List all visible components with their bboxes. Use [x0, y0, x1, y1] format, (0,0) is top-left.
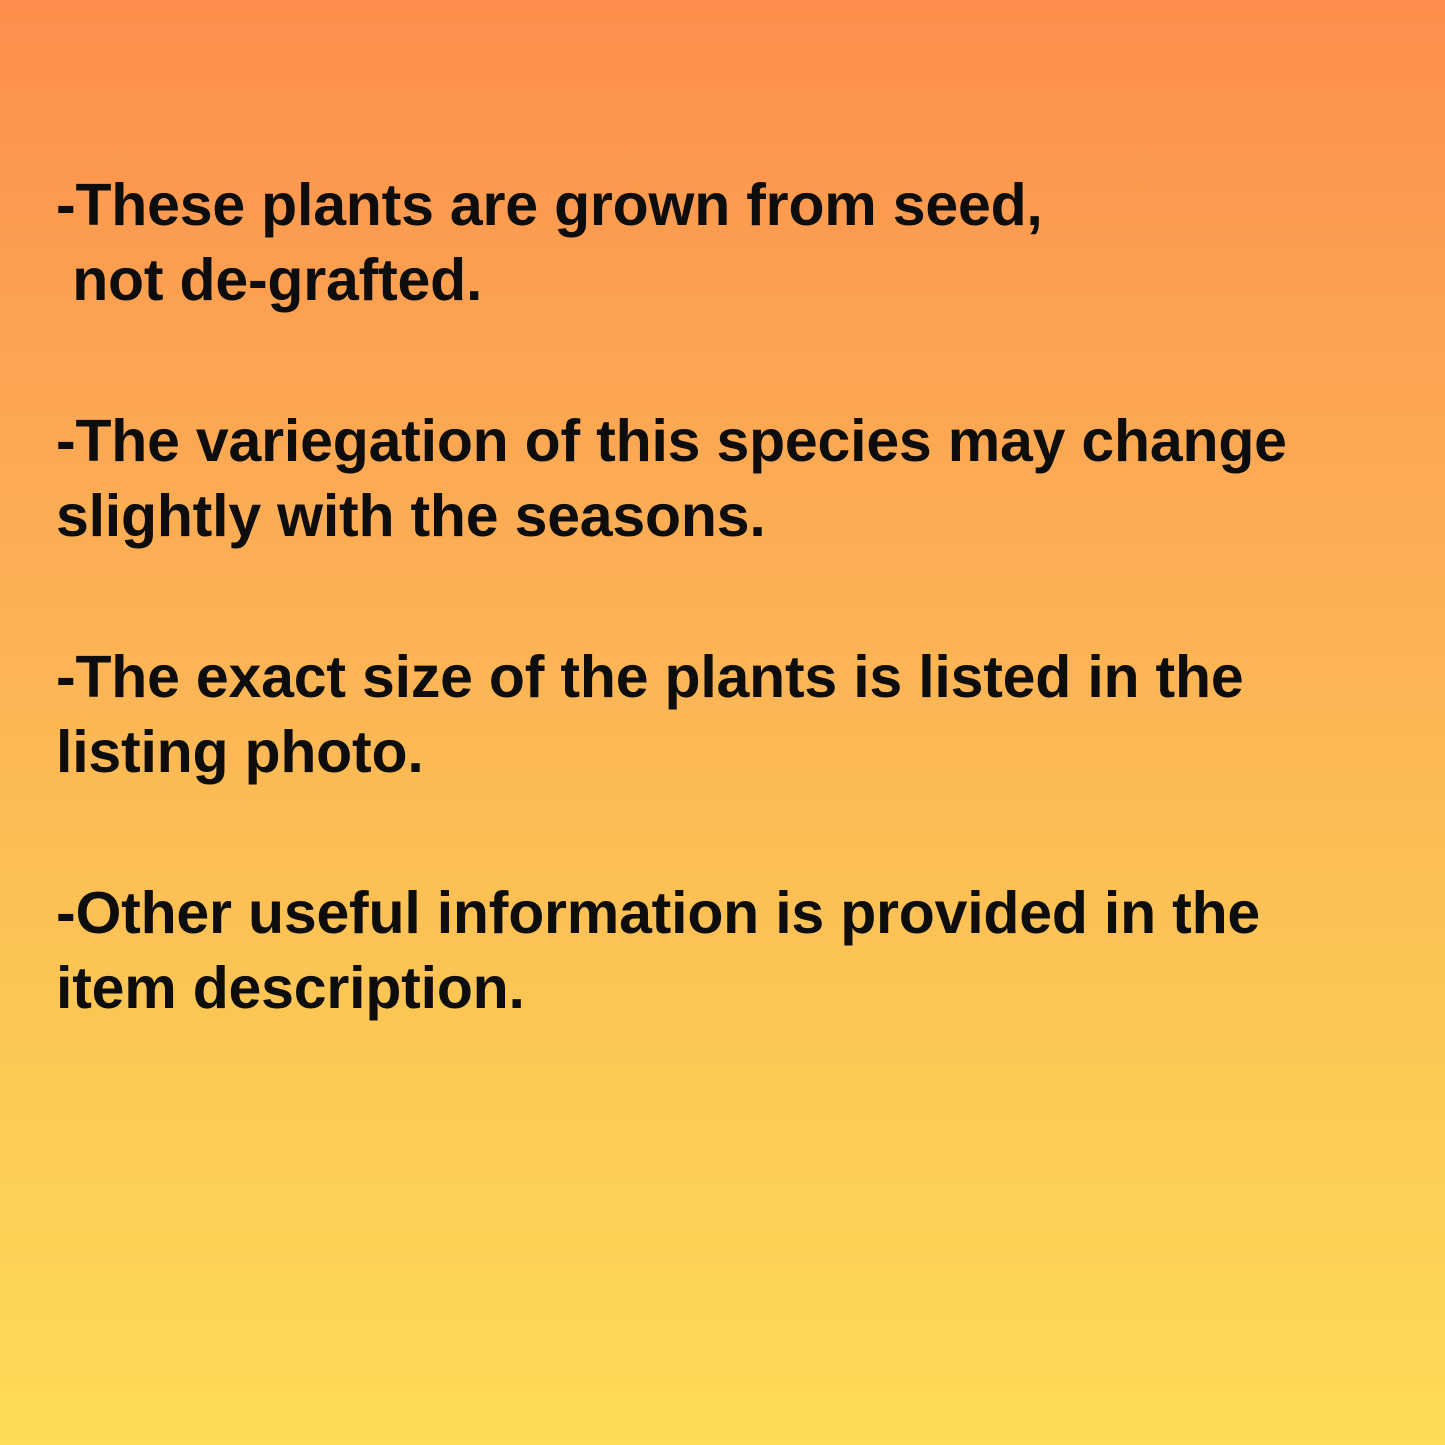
bullet-item-other-useful-information: -Other useful information is provided in… [56, 876, 1386, 1026]
bullet-item-grown-from-seed: -These plants are grown from seed, not d… [56, 168, 1386, 318]
info-graphic-card: -These plants are grown from seed, not d… [0, 0, 1445, 1445]
bullet-item-exact-size-listed: -The exact size of the plants is listed … [56, 640, 1386, 790]
bullet-item-variegation-changes: -The variegation of this species may cha… [56, 404, 1386, 554]
bullet-list: -These plants are grown from seed, not d… [56, 168, 1386, 1026]
empty-footer-area [0, 1060, 1445, 1445]
